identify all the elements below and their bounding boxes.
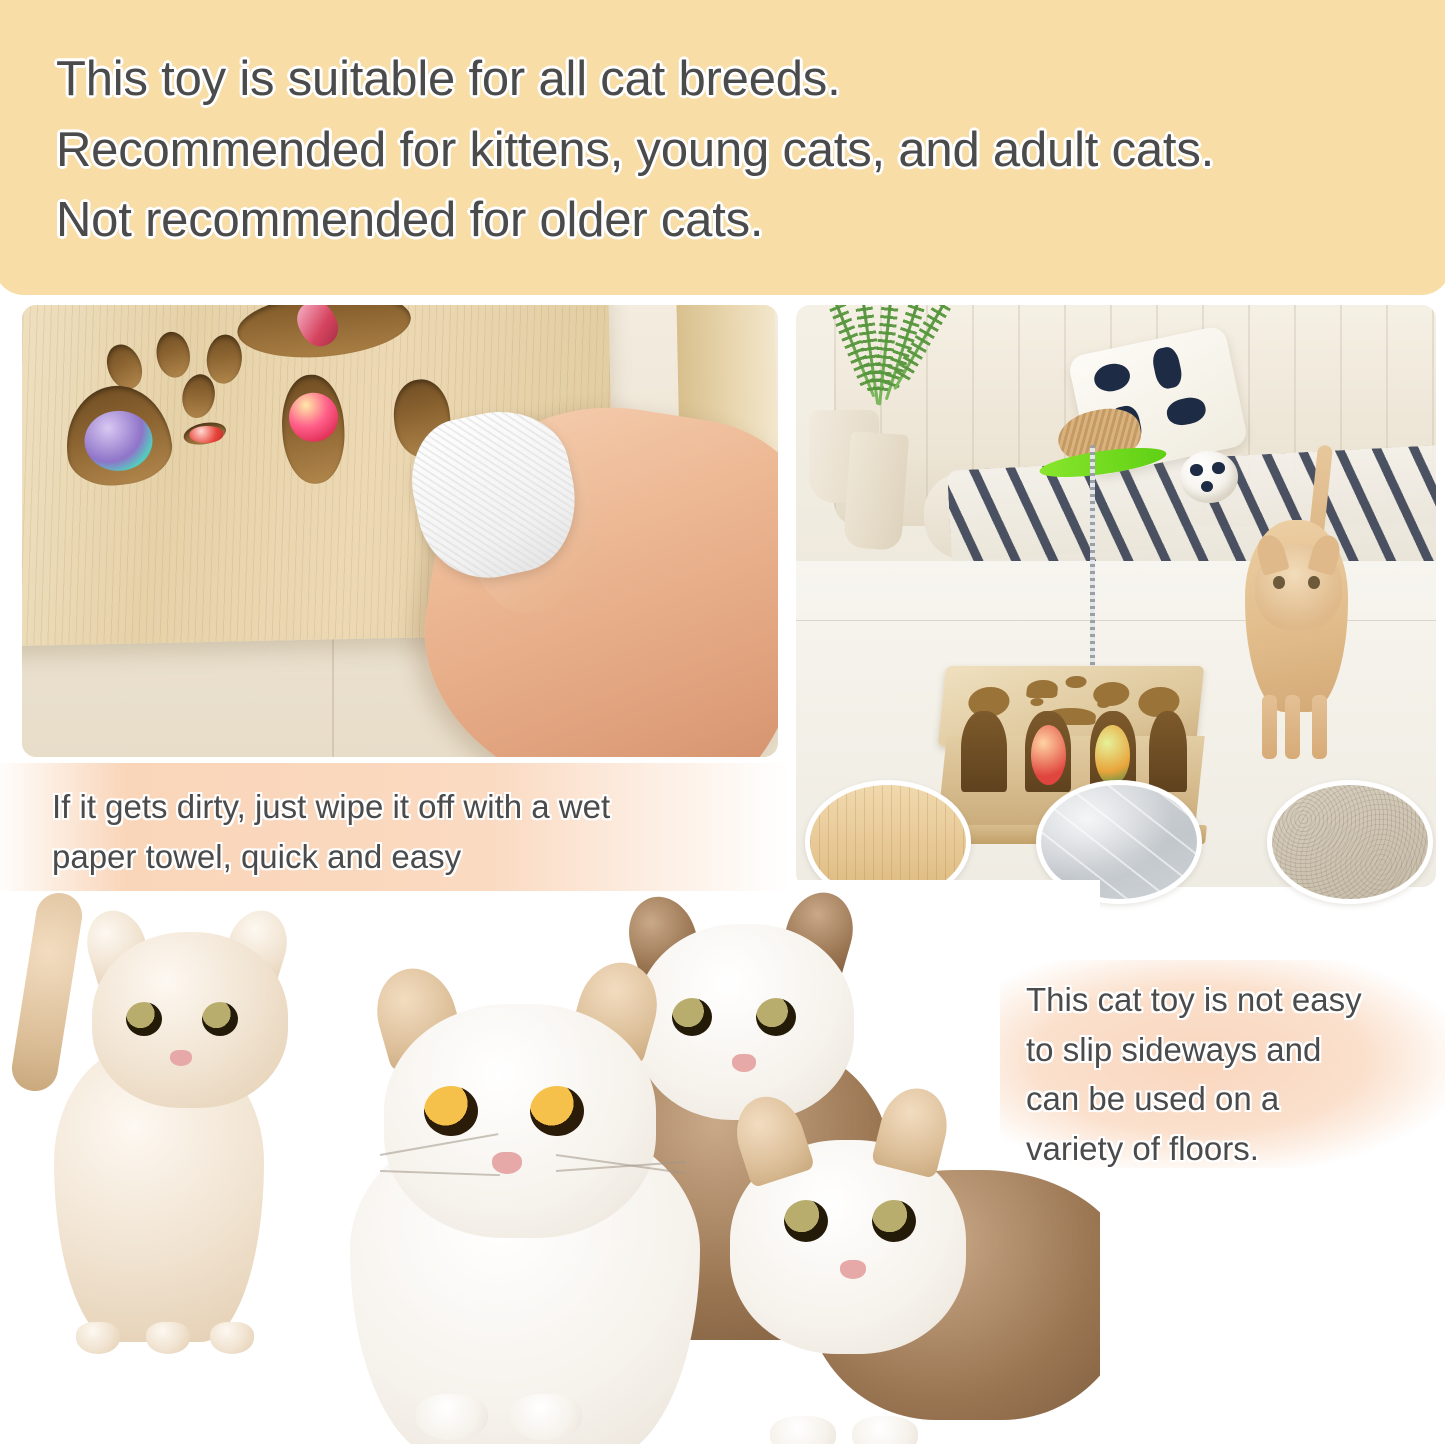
cutout-paw-toe-3 [205, 333, 244, 385]
wipe-clean-photo [22, 305, 778, 757]
carpet-floor-swatch [1267, 780, 1433, 904]
non-slip-caption: This cat toy is not easy to slip sideway… [1026, 975, 1431, 1173]
infographic-page: This toy is suitable for all cat breeds.… [0, 0, 1445, 1444]
cream-standing-kitten [10, 892, 310, 1362]
spring-coil [1090, 445, 1095, 678]
banner-line-1: This toy is suitable for all cat breeds. [56, 44, 1386, 115]
right-caption-line-2: to slip sideways and [1026, 1025, 1431, 1075]
calico-adult-cat [320, 940, 740, 1440]
wipe-clean-caption: If it gets dirty, just wipe it off with … [52, 782, 772, 882]
toy-ball-red-small [189, 426, 223, 443]
vase-front [843, 431, 909, 551]
banner-line-3: Not recommended for older cats. [56, 185, 1386, 256]
left-caption-line-2: paper towel, quick and easy [52, 832, 772, 882]
right-caption-line-3: can be used on a [1026, 1074, 1431, 1124]
right-caption-line-1: This cat toy is not easy [1026, 975, 1431, 1025]
group-of-cats-photo [0, 880, 1100, 1444]
cutout-paw-toe-2 [153, 329, 193, 380]
banner-line-2: Recommended for kittens, young cats, and… [56, 115, 1386, 186]
left-caption-line-1: If it gets dirty, just wipe it off with … [52, 782, 772, 832]
header-banner-text: This toy is suitable for all cat breeds.… [56, 44, 1386, 256]
header-banner: This toy is suitable for all cat breeds.… [0, 0, 1445, 295]
right-caption-line-4: variety of floors. [1026, 1124, 1431, 1174]
orange-tabby-cat [1218, 456, 1384, 747]
